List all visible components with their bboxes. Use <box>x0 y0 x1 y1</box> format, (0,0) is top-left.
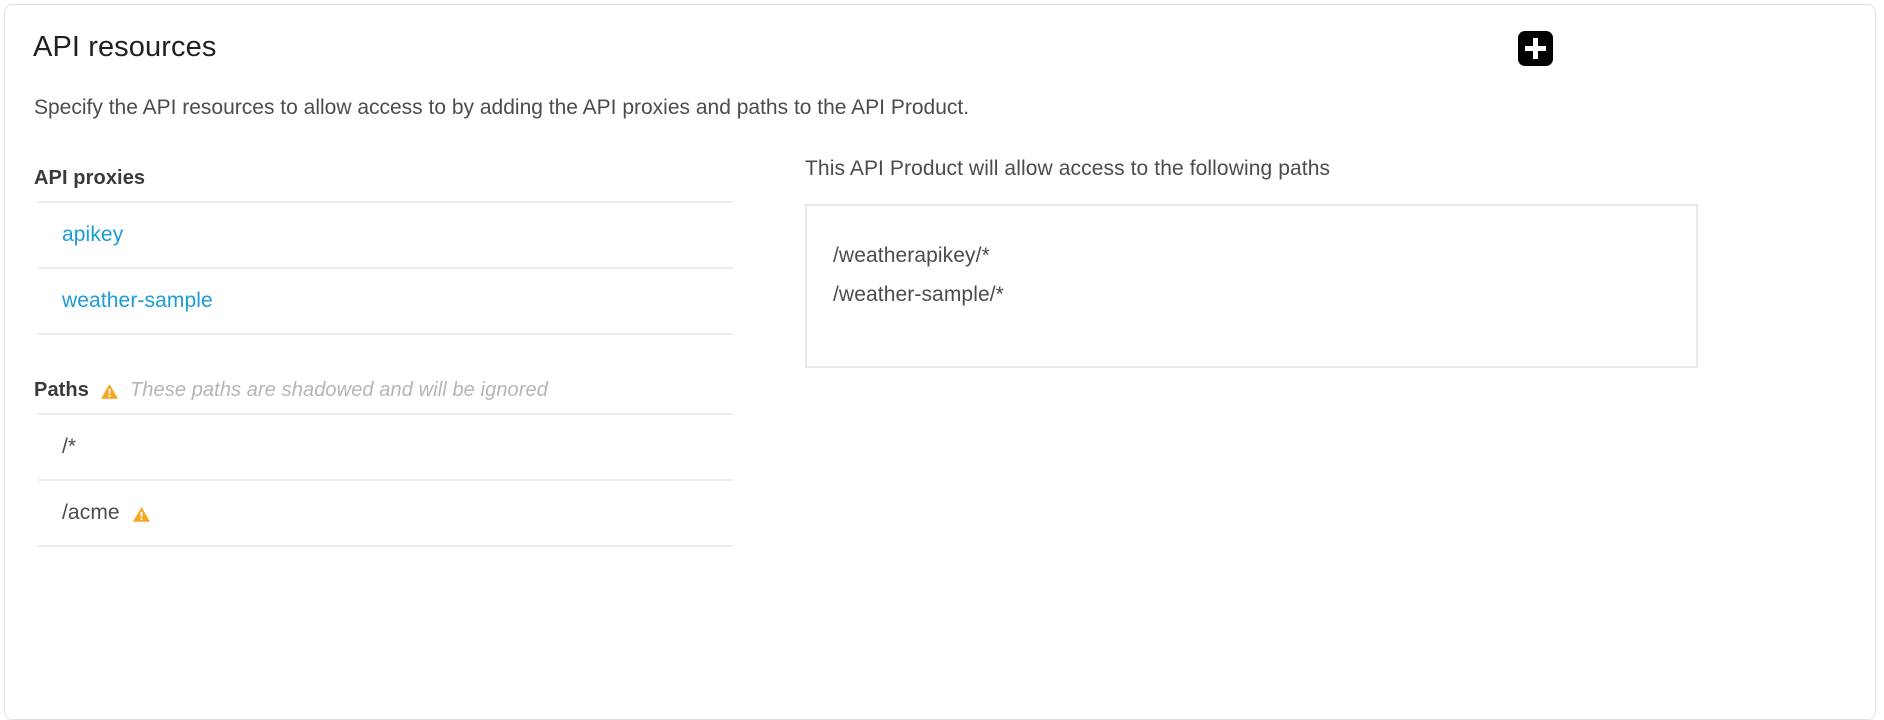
page-description: Specify the API resources to allow acces… <box>34 93 969 123</box>
left-column: API proxies apikey weather-sample Paths <box>5 155 795 547</box>
card-header: API resources <box>5 5 1875 83</box>
section-spacer <box>5 335 795 367</box>
allowed-path-item: /weatherapikey/* <box>833 236 1696 275</box>
api-proxy-link-weather-sample[interactable]: weather-sample <box>62 289 213 313</box>
allowed-paths-box: /weatherapikey/* /weather-sample/* <box>805 204 1698 368</box>
warning-triangle-icon <box>132 505 151 524</box>
add-resource-button[interactable] <box>1518 31 1553 66</box>
right-column: This API Product will allow access to th… <box>805 155 1865 368</box>
list-item[interactable]: /* <box>38 415 733 481</box>
path-label-wildcard: /* <box>62 435 76 459</box>
api-proxies-list: apikey weather-sample <box>38 201 733 335</box>
list-item[interactable]: weather-sample <box>38 269 733 335</box>
path-label-acme: /acme <box>62 501 120 525</box>
api-proxy-link-apikey[interactable]: apikey <box>62 223 123 247</box>
paths-header: Paths These paths are shadowed and will … <box>5 367 795 413</box>
list-item[interactable]: /acme <box>38 481 733 547</box>
allowed-path-item: /weather-sample/* <box>833 275 1696 314</box>
page-title: API resources <box>33 29 216 65</box>
api-proxies-section: API proxies apikey weather-sample <box>5 155 795 335</box>
paths-section: Paths These paths are shadowed and will … <box>5 367 795 547</box>
warning-triangle-icon <box>100 382 119 401</box>
paths-title: Paths <box>34 379 89 402</box>
paths-shadowed-hint: These paths are shadowed and will be ign… <box>130 379 548 402</box>
paths-list: /* /acme <box>38 413 733 547</box>
api-proxies-header: API proxies <box>5 155 795 201</box>
api-proxies-title: API proxies <box>34 167 145 190</box>
allowed-paths-label: This API Product will allow access to th… <box>805 155 1865 183</box>
plus-icon-vertical <box>1533 38 1538 59</box>
api-resources-card: API resources Specify the API resources … <box>4 4 1876 720</box>
list-item[interactable]: apikey <box>38 203 733 269</box>
